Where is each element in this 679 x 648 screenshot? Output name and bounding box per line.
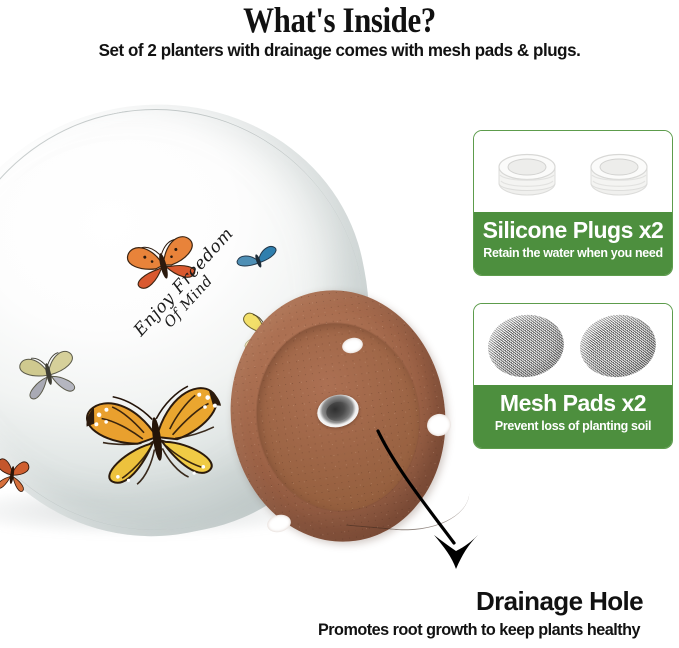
- silicone-plug-icon-2: [582, 145, 656, 201]
- card-label-band: Silicone Plugs x2 Retain the water when …: [474, 212, 672, 275]
- page-title: What's Inside?: [48, 0, 632, 40]
- callout-subtitle: Promotes root growth to keep plants heal…: [279, 620, 679, 640]
- mesh-pad-icon-2: [576, 310, 660, 382]
- callout-title: Drainage Hole: [440, 586, 679, 616]
- monarch-butterfly-icon: [76, 375, 238, 503]
- card-subtitle: Retain the water when you need: [481, 245, 665, 261]
- mesh-pad-icon-1: [484, 310, 568, 382]
- card-title: Silicone Plugs x2: [480, 215, 666, 245]
- feature-card-silicone-plugs[interactable]: Silicone Plugs x2 Retain the water when …: [473, 130, 673, 276]
- silicone-plug-icon-1: [490, 145, 564, 201]
- mesh-pad-discs-image: [474, 304, 672, 387]
- feature-card-mesh-pads[interactable]: Mesh Pads x2 Prevent loss of planting so…: [473, 303, 673, 449]
- card-subtitle: Prevent loss of planting soil: [481, 418, 665, 434]
- curved-arrow-icon: [374, 425, 514, 585]
- card-title: Mesh Pads x2: [480, 388, 666, 418]
- product-infographic: What's Inside? Set of 2 planters with dr…: [0, 0, 679, 648]
- card-label-band: Mesh Pads x2 Prevent loss of planting so…: [474, 385, 672, 448]
- page-subtitle: Set of 2 planters with drainage comes wi…: [10, 40, 669, 61]
- silicone-plug-rings-image: [474, 131, 672, 214]
